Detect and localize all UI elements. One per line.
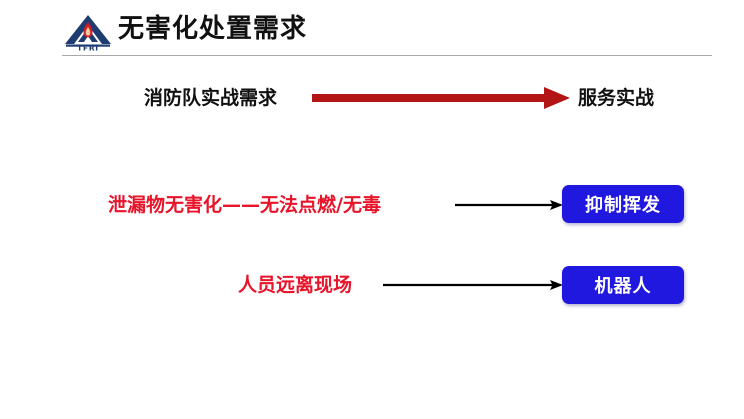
slide-header: TFRI 无害化处置需求: [0, 0, 744, 58]
flow-source-label-personnel-safety: 人员远离现场: [238, 265, 352, 305]
result-box-label: 抑制挥发: [585, 191, 661, 217]
red-thick-arrow-icon: [312, 86, 570, 110]
page-title: 无害化处置需求: [118, 12, 307, 46]
flow-source-label-primary-demand: 消防队实战需求: [144, 78, 277, 118]
result-box-label: 机器人: [595, 272, 652, 298]
flow-target-label-service-combat: 服务实战: [578, 78, 654, 118]
tfri-wordmark: TFRI: [77, 43, 99, 51]
black-thin-arrow-icon: [455, 195, 563, 215]
tfri-logo-icon: TFRI: [62, 13, 114, 51]
black-thin-arrow-icon: [383, 275, 563, 295]
result-box-suppress-volatilization[interactable]: 抑制挥发: [562, 185, 684, 223]
result-box-robot[interactable]: 机器人: [562, 266, 684, 304]
flow-row-primary-demand: 消防队实战需求 服务实战: [0, 78, 744, 118]
flow-source-label-harmless-treatment: 泄漏物无害化——无法点燃/无毒: [108, 185, 381, 225]
header-divider: [62, 55, 712, 56]
